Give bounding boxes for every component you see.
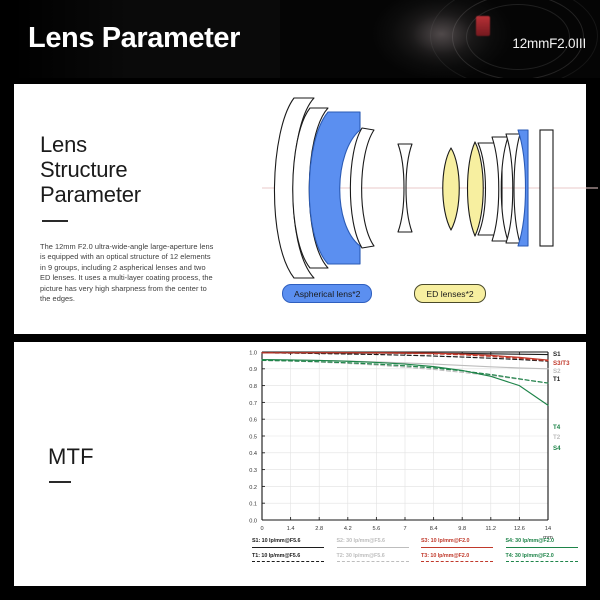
structure-heading-line2: Structure xyxy=(40,157,236,182)
lens-cross-section-diagram xyxy=(262,90,598,286)
legend-swatch-s4 xyxy=(506,547,578,548)
legend-item-s4: S4: 30 lp/mm@F2.0 xyxy=(506,538,591,548)
legend-label-t4: T4: 30 lp/mm@F2.0 xyxy=(506,553,591,560)
mtf-curve-end-label: T4 xyxy=(553,424,561,431)
mtf-curve-end-label: S4 xyxy=(553,445,561,452)
legend-swatch-s2 xyxy=(337,547,409,548)
lens-element-12 xyxy=(540,130,553,246)
x-tick-label: 7 xyxy=(403,526,406,532)
legend-swatch-t1 xyxy=(252,561,324,562)
mtf-heading-block: MTF xyxy=(48,444,94,483)
mtf-curve-end-label: S3/T3 xyxy=(553,360,570,367)
y-tick-label: 0.3 xyxy=(249,468,257,474)
mtf-panel: MTF 0.00.10.20.30.40.50.60.70.80.91.001.… xyxy=(14,342,586,586)
legend-label-t3: T3: 10 lp/mm@F2.0 xyxy=(421,553,506,560)
y-tick-label: 0.2 xyxy=(249,485,257,491)
mtf-curve-end-label: T2 xyxy=(553,434,561,441)
y-tick-label: 1.0 xyxy=(249,350,257,356)
legend-label-s3: S3: 10 lp/mm@F2.0 xyxy=(421,538,506,545)
y-tick-label: 0.0 xyxy=(249,518,257,524)
y-tick-label: 0.6 xyxy=(249,418,257,424)
x-tick-label: 12.6 xyxy=(514,526,525,532)
mtf-legend-row-s: S1: 10 lp/mm@F5.6 S2: 30 lp/mm@F5.6 S3: … xyxy=(252,538,590,548)
legend-item-t2: T2: 30 lp/mm@F5.6 xyxy=(337,553,422,563)
y-tick-label: 0.4 xyxy=(249,451,257,457)
x-tick-label: 2.8 xyxy=(315,526,323,532)
legend-item-t4: T4: 30 lp/mm@F2.0 xyxy=(506,553,591,563)
mtf-chart-legend: S1: 10 lp/mm@F5.6 S2: 30 lp/mm@F5.6 S3: … xyxy=(252,538,590,567)
page-root: Lens Parameter 12mmF2.0III Lens Structur… xyxy=(0,0,600,600)
legend-item-s3: S3: 10 lp/mm@F2.0 xyxy=(421,538,506,548)
lens-photo-red-accent xyxy=(476,16,490,36)
legend-swatch-t2 xyxy=(337,561,409,562)
legend-item-s2: S2: 30 lp/mm@F5.6 xyxy=(337,538,422,548)
x-tick-label: 0 xyxy=(260,526,263,532)
x-tick-label: 1.4 xyxy=(287,526,295,532)
legend-swatch-s1 xyxy=(252,547,324,548)
legend-swatch-s3 xyxy=(421,547,493,548)
legend-label-s1: S1: 10 lp/mm@F5.6 xyxy=(252,538,337,545)
lens-element-7-ed xyxy=(468,142,484,236)
legend-label-s4: S4: 30 lp/mm@F2.0 xyxy=(506,538,591,545)
mtf-heading-rule xyxy=(49,481,71,483)
y-tick-label: 0.8 xyxy=(249,384,257,390)
x-tick-label: 9.8 xyxy=(458,526,466,532)
lens-structure-panel: Lens Structure Parameter The 12mm F2.0 u… xyxy=(14,84,586,334)
x-tick-label: 8.4 xyxy=(430,526,438,532)
structure-heading-line3: Parameter xyxy=(40,182,236,207)
structure-description: The 12mm F2.0 ultra-wide-angle large-ape… xyxy=(40,242,215,304)
mtf-curve-end-label: T1 xyxy=(553,376,561,383)
structure-heading-rule xyxy=(42,220,68,222)
legend-aspherical: Aspherical lens*2 xyxy=(282,284,372,303)
y-tick-label: 0.1 xyxy=(249,502,257,508)
y-tick-label: 0.9 xyxy=(249,367,257,373)
model-name: 12mmF2.0III xyxy=(512,36,586,51)
mtf-legend-row-t: T1: 10 lp/mm@F5.6 T2: 30 lp/mm@F5.6 T3: … xyxy=(252,553,590,563)
lens-element-6-ed xyxy=(443,148,460,230)
x-tick-label: 14 xyxy=(545,526,551,532)
x-tick-label: 11.2 xyxy=(486,526,496,532)
legend-label-t2: T2: 30 lp/mm@F5.6 xyxy=(337,553,422,560)
y-tick-label: 0.5 xyxy=(249,434,257,440)
legend-swatch-t3 xyxy=(421,561,493,562)
mtf-title: MTF xyxy=(48,444,94,470)
x-tick-label: 4.2 xyxy=(344,526,352,532)
structure-text-block: Lens Structure Parameter The 12mm F2.0 u… xyxy=(40,132,236,304)
y-tick-label: 0.7 xyxy=(249,401,257,407)
mtf-curve-end-label: S1 xyxy=(553,351,561,358)
x-tick-label: 5.6 xyxy=(373,526,381,532)
legend-item-s1: S1: 10 lp/mm@F5.6 xyxy=(252,538,337,548)
structure-heading-line1: Lens xyxy=(40,132,236,157)
legend-item-t1: T1: 10 lp/mm@F5.6 xyxy=(252,553,337,563)
legend-ed: ED lenses*2 xyxy=(414,284,485,303)
legend-label-t1: T1: 10 lp/mm@F5.6 xyxy=(252,553,337,560)
mtf-curve-end-label: S2 xyxy=(553,368,561,375)
legend-item-t3: T3: 10 lp/mm@F2.0 xyxy=(421,553,506,563)
page-header: Lens Parameter 12mmF2.0III xyxy=(0,0,600,78)
page-title: Lens Parameter xyxy=(28,22,240,55)
mtf-chart: 0.00.10.20.30.40.50.60.70.80.91.001.42.8… xyxy=(228,344,588,554)
legend-swatch-t4 xyxy=(506,561,578,562)
lens-type-legend: Aspherical lens*2 ED lenses*2 xyxy=(282,284,582,303)
legend-label-s2: S2: 30 lp/mm@F5.6 xyxy=(337,538,422,545)
